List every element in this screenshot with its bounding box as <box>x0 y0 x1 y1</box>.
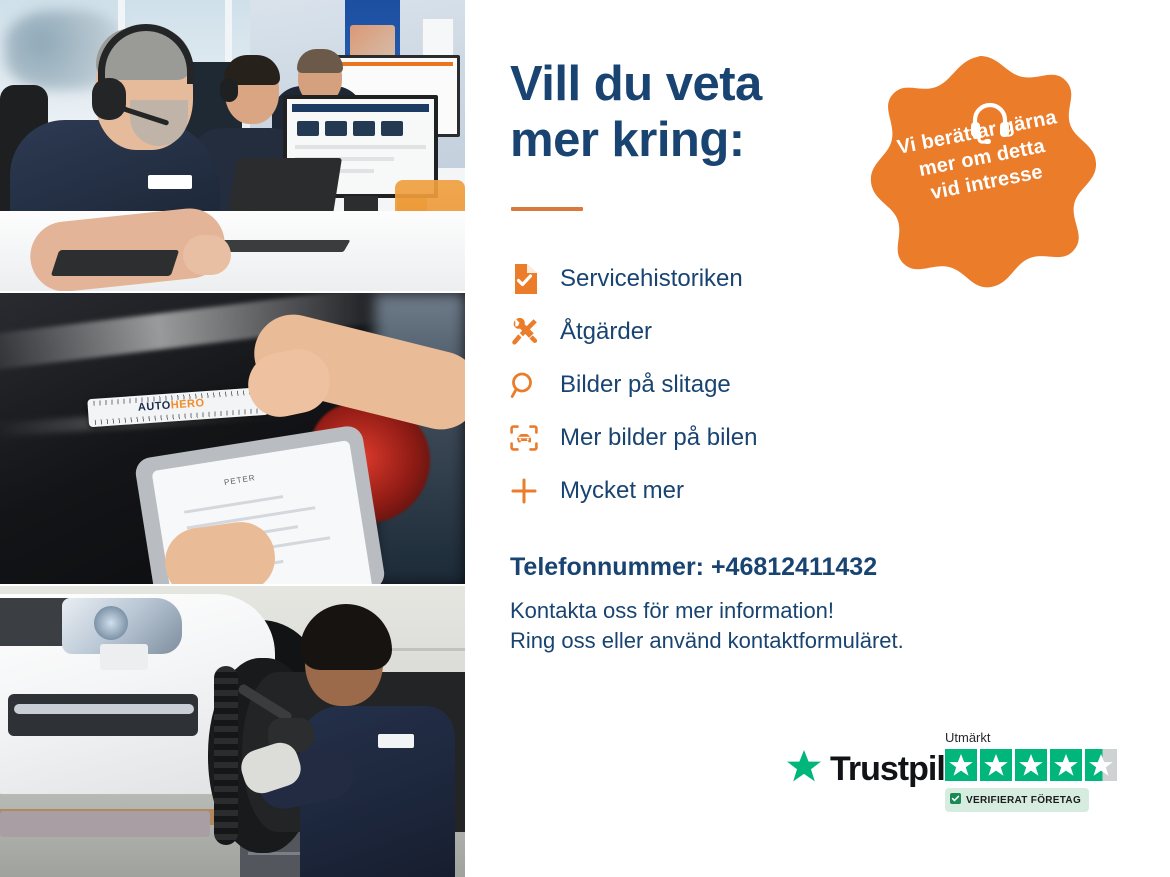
wrench-screwdriver-icon <box>509 317 539 347</box>
promo-banner: AUTOHERO PETER <box>0 0 1170 877</box>
callout-badge: Vi berättar gärna mer om detta vid intre… <box>860 52 1100 302</box>
feature-item-bilder-pa-slitage: Bilder på slitage <box>509 358 939 411</box>
logo-hero: HERO <box>170 397 205 411</box>
license-plate-area <box>100 644 148 670</box>
star-tile-5-half <box>1085 749 1117 781</box>
tablet-brand-text: PETER <box>223 473 256 487</box>
agent-hand <box>183 235 231 275</box>
star-tile-3 <box>1015 749 1047 781</box>
trustpilot-widget[interactable]: Trustpilot Utmärkt <box>785 730 1130 820</box>
feature-item-mycket-mer: Mycket mer <box>509 464 939 517</box>
feature-label: Mer bilder på bilen <box>560 426 757 450</box>
chrome-trim <box>14 704 194 714</box>
workshop-photo <box>0 586 465 877</box>
headset-earcup <box>92 78 126 120</box>
magnifier-icon <box>509 370 539 400</box>
phone-number[interactable]: Telefonnummer: +46812411432 <box>510 553 1070 582</box>
screen-text-row <box>295 145 426 149</box>
car-scan-icon <box>509 423 539 453</box>
contact-line-1: Kontakta oss för mer information! <box>510 596 1070 626</box>
rating-label: Utmärkt <box>945 730 1125 745</box>
inspection-photo: AUTOHERO PETER <box>0 293 465 584</box>
plus-icon <box>509 476 539 506</box>
wall-poster <box>422 18 454 60</box>
screen-car-thumb <box>381 121 403 136</box>
trustpilot-rating: Utmärkt <box>945 730 1125 812</box>
headlight-projector <box>94 606 128 640</box>
star-tile-4 <box>1050 749 1082 781</box>
logo-auto: AUTO <box>138 400 172 414</box>
verified-business-badge: VERIFIERAT FÖRETAG <box>945 788 1089 812</box>
feature-item-atgarder: Åtgärder <box>509 305 939 358</box>
trustpilot-star-icon <box>785 748 823 791</box>
call-center-photo <box>0 0 465 291</box>
tablet-row <box>184 495 283 514</box>
feature-label: Åtgärder <box>560 320 652 344</box>
feature-item-mer-bilder-pa-bilen: Mer bilder på bilen <box>509 411 939 464</box>
contact-line-2: Ring oss eller använd kontaktformuläret. <box>510 626 1070 656</box>
rating-stars <box>945 749 1125 781</box>
headline-line-2: mer kring: <box>510 113 745 167</box>
title-divider <box>511 207 583 211</box>
car-lift-arm <box>0 811 210 837</box>
verified-label: VERIFIERAT FÖRETAG <box>966 795 1081 806</box>
desk-tablet <box>51 250 179 276</box>
star-tile-1 <box>945 749 977 781</box>
monitor-screen-header <box>292 104 429 112</box>
feature-label: Mycket mer <box>560 479 684 503</box>
headline-line-1: Vill du veta <box>510 57 762 111</box>
tyre-tread <box>214 666 238 845</box>
feature-label: Bilder på slitage <box>560 373 731 397</box>
screen-car-thumb <box>325 121 347 136</box>
feature-label: Servicehistoriken <box>560 267 743 291</box>
star-tile-2 <box>980 749 1012 781</box>
colleague-headset <box>220 78 238 102</box>
uniform-logo-tag <box>378 734 414 748</box>
verified-check-icon <box>950 791 961 809</box>
photo-column: AUTOHERO PETER <box>0 0 465 877</box>
contact-block: Telefonnummer: +46812411432 Kontakta oss… <box>510 553 1070 656</box>
colleague-hair <box>297 49 343 73</box>
bumper-vent <box>8 694 198 736</box>
checklist-document-icon <box>509 264 539 294</box>
screen-car-thumb <box>353 121 375 136</box>
uniform-logo-tag <box>148 175 192 189</box>
screen-car-thumb <box>297 121 319 136</box>
